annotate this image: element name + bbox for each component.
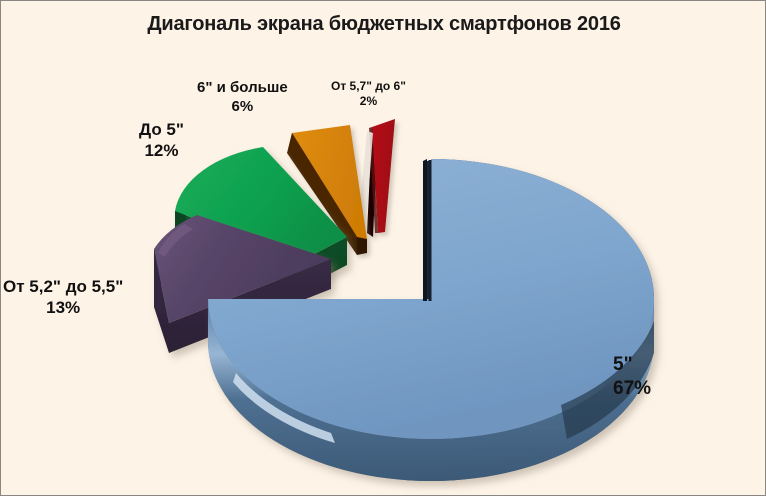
pie-chart-graphic: [1, 1, 766, 496]
pie-chart-frame: Диагональ экрана бюджетных смартфонов 20…: [0, 0, 766, 496]
